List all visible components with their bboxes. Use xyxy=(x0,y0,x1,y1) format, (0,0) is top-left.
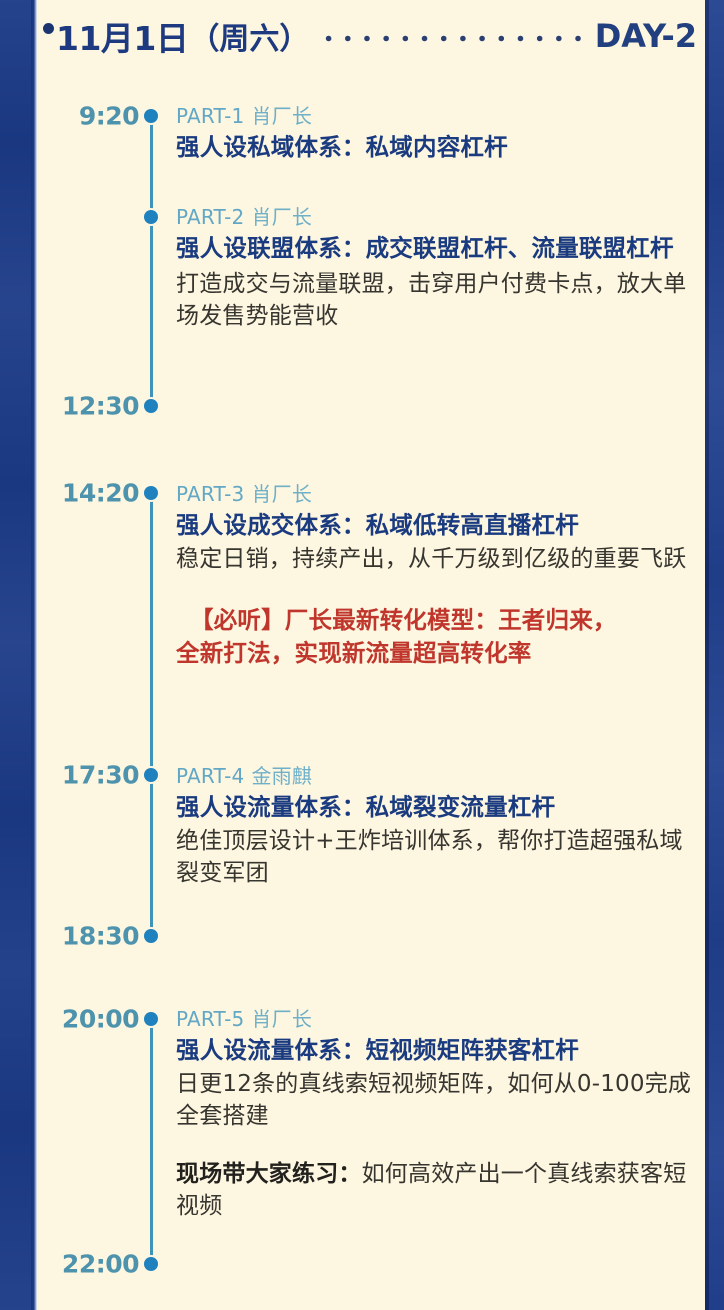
session-block-part-5[interactable]: PART-5肖厂长 强人设流量体系：短视频矩阵获客杠杆 日更12条的真线索短视频… xyxy=(176,1003,697,1222)
session-title-5: 强人设流量体系：短视频矩阵获客杠杆 xyxy=(176,1035,697,1066)
part-number-5: PART-5 xyxy=(176,1007,244,1031)
time-label-1230: 12:30 xyxy=(19,392,139,421)
speaker-name-5: 肖厂长 xyxy=(251,1007,312,1031)
session-highlight-line-2: 全新打法，实现新流量超高转化率 xyxy=(176,639,532,667)
timeline: 9:20 12:30 14:20 17:30 18:30 20:00 22:00… xyxy=(43,78,697,1310)
speaker-name-1: 肖厂长 xyxy=(251,104,312,128)
session-description-3: 稳定日销，持续产出，从千万级到亿级的重要飞跃 xyxy=(176,544,697,576)
schedule-page: 11月1日 （周六） DAY-2 9:20 12:30 14:20 17:30 … xyxy=(43,0,705,1310)
time-label-2000: 20:00 xyxy=(19,1005,139,1034)
timeline-rail-segment-2 xyxy=(150,493,153,936)
session-part-label-4: PART-4金雨麒 xyxy=(176,760,697,789)
session-title-1: 强人设私域体系：私域内容杠杆 xyxy=(176,132,697,163)
timeline-dot-1730 xyxy=(144,768,158,782)
timeline-dot-1830 xyxy=(144,929,158,943)
session-highlight-3: 【必听】厂长最新转化模型：王者归来， 全新打法，实现新流量超高转化率 xyxy=(176,604,697,670)
session-block-part-4[interactable]: PART-4金雨麒 强人设流量体系：私域裂变流量杠杆 绝佳顶层设计+王炸培训体系… xyxy=(176,760,697,889)
time-label-1830: 18:30 xyxy=(19,922,139,951)
session-description-5: 日更12条的真线索短视频矩阵，如何从0-100完成全套搭建 xyxy=(176,1069,697,1132)
timeline-dot-part2 xyxy=(144,210,158,224)
speaker-name-2: 肖厂长 xyxy=(251,205,312,229)
session-title-2: 强人设联盟体系：成交联盟杠杆、流量联盟杠杆 xyxy=(176,233,697,264)
session-title-4: 强人设流量体系：私域裂变流量杠杆 xyxy=(176,792,697,823)
session-part-label-3: PART-3肖厂长 xyxy=(176,478,697,507)
timeline-dot-2200 xyxy=(144,1257,158,1271)
part-number-4: PART-4 xyxy=(176,764,244,788)
timeline-dot-2000 xyxy=(144,1012,158,1026)
time-label-1730: 17:30 xyxy=(19,761,139,790)
session-practice-5: 现场带大家练习：如何高效产出一个真线索获客短视频 xyxy=(176,1159,697,1222)
header-date: 11月1日 xyxy=(56,12,188,60)
speaker-name-3: 肖厂长 xyxy=(251,482,312,506)
header-weekday: （周六） xyxy=(189,14,309,58)
time-label-2200: 22:00 xyxy=(19,1250,139,1279)
header-day-label: DAY-2 xyxy=(595,17,697,55)
speaker-name-4: 金雨麒 xyxy=(251,764,312,788)
part-number-2: PART-2 xyxy=(176,205,244,229)
session-highlight-line-1: 【必听】厂长最新转化模型：王者归来， xyxy=(176,606,617,634)
right-stripe-texture xyxy=(705,0,724,1310)
session-title-3: 强人设成交体系：私域低转高直播杠杆 xyxy=(176,510,697,541)
schedule-header: 11月1日 （周六） DAY-2 xyxy=(43,13,697,59)
timeline-rail-segment-3 xyxy=(150,1019,153,1264)
timeline-dot-1420 xyxy=(144,486,158,500)
session-block-part-2[interactable]: PART-2肖厂长 强人设联盟体系：成交联盟杠杆、流量联盟杠杆 打造成交与流量联… xyxy=(176,201,697,332)
part-number-3: PART-3 xyxy=(176,482,244,506)
session-description-4: 绝佳顶层设计+王炸培训体系，帮你打造超强私域裂变军团 xyxy=(176,826,697,889)
left-decorative-stripe xyxy=(0,0,37,1310)
right-decorative-stripe xyxy=(705,0,724,1310)
timeline-dot-1230 xyxy=(144,399,158,413)
time-label-0920: 9:20 xyxy=(19,102,139,131)
dotted-leader-icon xyxy=(319,35,586,42)
session-part-label-1: PART-1肖厂长 xyxy=(176,100,697,129)
session-description-2: 打造成交与流量联盟，击穿用户付费卡点，放大单场发售势能营收 xyxy=(176,269,697,332)
session-part-label-2: PART-2肖厂长 xyxy=(176,201,697,230)
timeline-rail-segment-1 xyxy=(150,116,153,406)
left-stripe-texture xyxy=(0,0,37,1310)
timeline-dot-0920 xyxy=(144,109,158,123)
session-block-part-1[interactable]: PART-1肖厂长 强人设私域体系：私域内容杠杆 xyxy=(176,100,697,163)
header-bullet-icon xyxy=(43,23,54,34)
session-block-part-3[interactable]: PART-3肖厂长 强人设成交体系：私域低转高直播杠杆 稳定日销，持续产出，从千… xyxy=(176,478,697,670)
part-number-1: PART-1 xyxy=(176,104,244,128)
session-part-label-5: PART-5肖厂长 xyxy=(176,1003,697,1032)
session-practice-title-5: 现场带大家练习： xyxy=(176,1161,362,1187)
time-label-1420: 14:20 xyxy=(19,479,139,508)
